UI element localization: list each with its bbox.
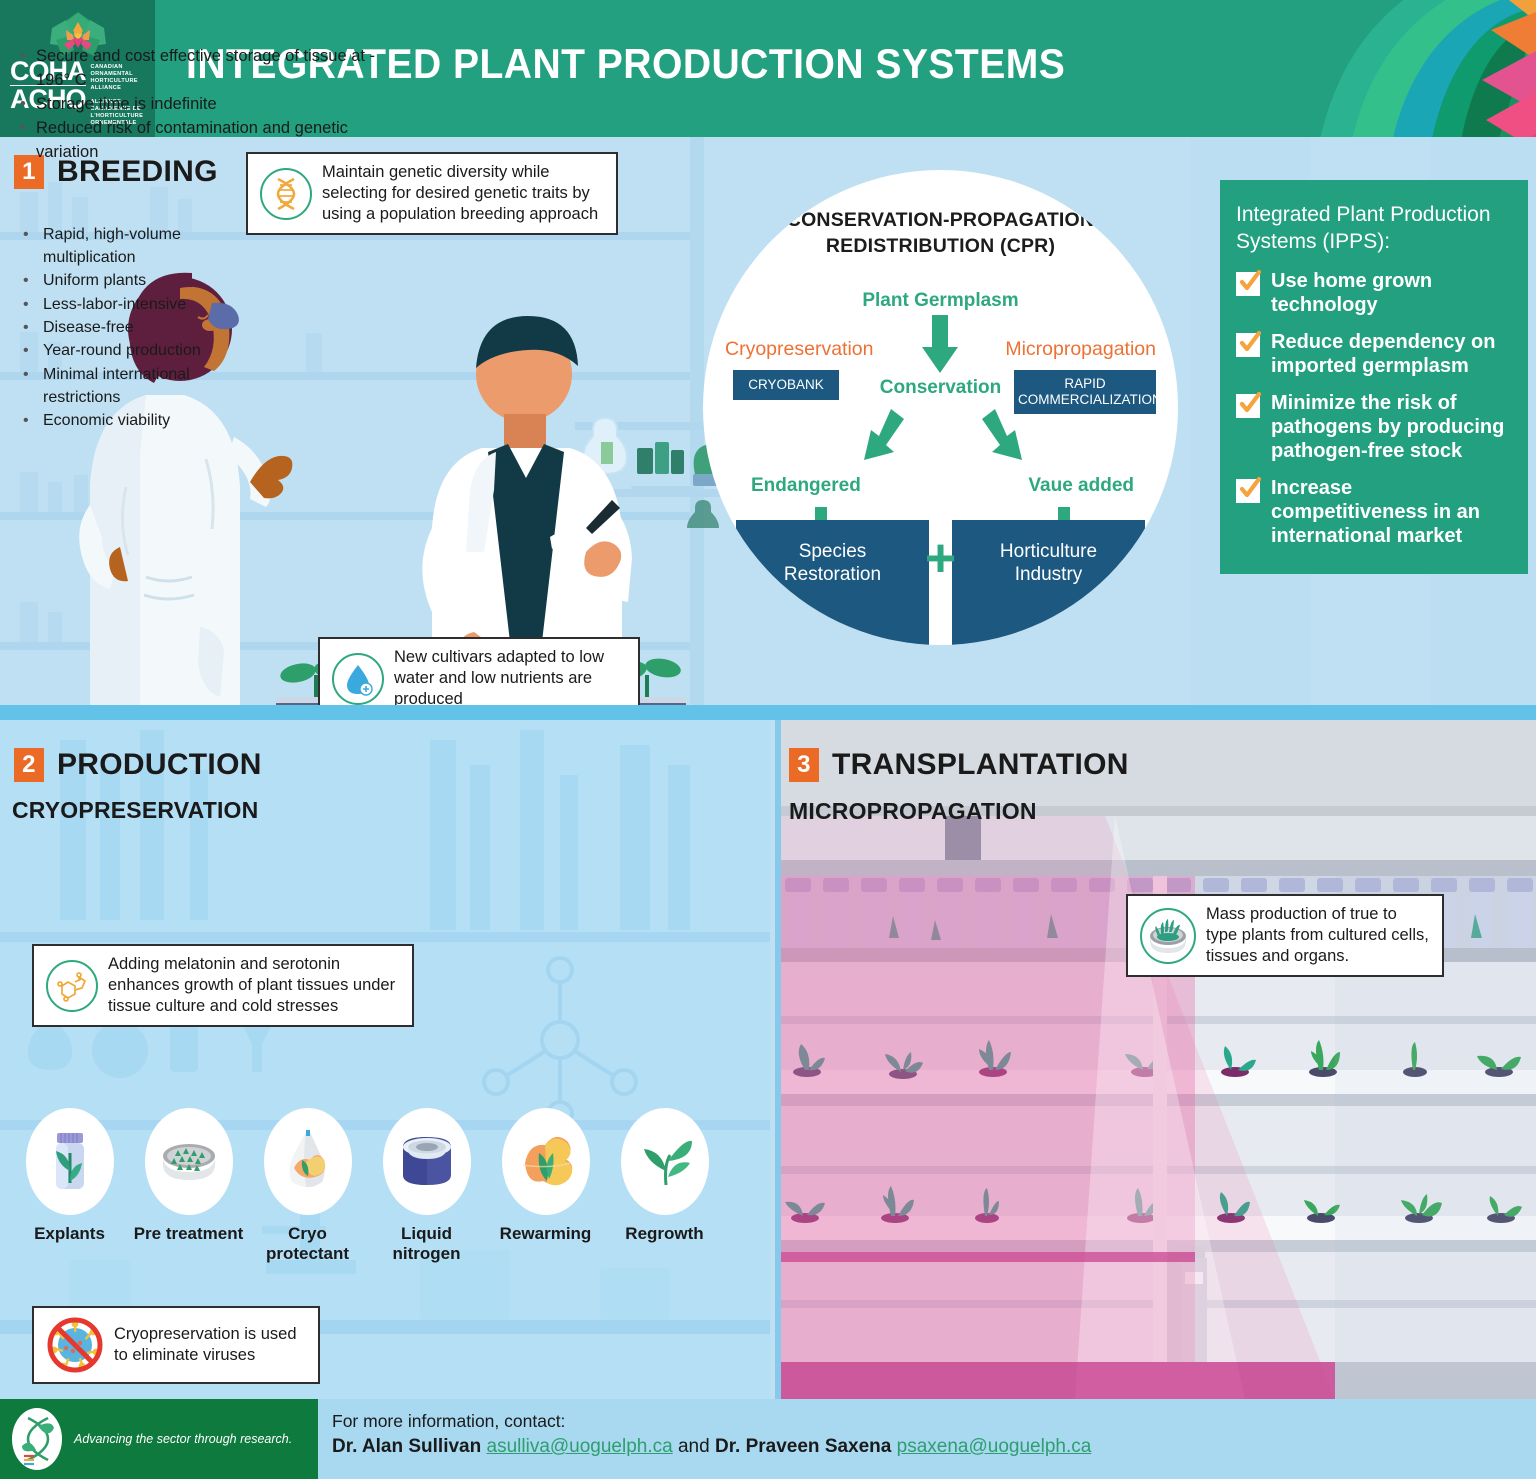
ipps-panel: Integrated Plant Production Systems (IPP…	[1220, 180, 1528, 574]
advantage-3: Less-labor-intensive	[15, 293, 267, 316]
step-ln-l1: Liquid	[401, 1224, 452, 1243]
nitrogen-dewar-icon	[383, 1108, 471, 1215]
water-drop-plus-icon	[332, 653, 384, 705]
petri-dish-icon	[145, 1108, 233, 1215]
vial-explant-icon	[26, 1108, 114, 1215]
step-pre-treatment-label: Pre treatment	[129, 1224, 248, 1244]
advantage-4: Disease-free	[15, 316, 267, 339]
cpr-plant-germplasm-label: Plant Germplasm	[703, 290, 1178, 312]
section-2-heading: 2 PRODUCTION	[14, 748, 262, 782]
step-liquid-nitrogen: Liquid nitrogen	[367, 1108, 486, 1264]
infographic-page: COHA ACHO CANADIAN ORNAMENTAL HORTICULTU…	[0, 0, 1536, 1479]
advantage-1: Rapid, high-volume multiplication	[15, 223, 267, 270]
cpr-conservation-label: Conservation	[703, 377, 1178, 399]
cpr-title-line1: CONSERVATION-PROPAGATION	[703, 208, 1178, 234]
species-restoration-line2: Restoration	[784, 563, 881, 586]
arrow-down-germplasm-icon	[914, 315, 966, 377]
checkbox-checked-icon	[1236, 479, 1260, 503]
callout-breeding-text: Maintain genetic diversity while selecti…	[322, 162, 604, 225]
section-divider	[0, 705, 1536, 720]
footer-email-1[interactable]: asulliva@uoguelph.ca	[487, 1436, 673, 1457]
horticulture-industry-line1: Horticulture	[1000, 540, 1097, 563]
callout-mass-production: Mass production of true to type plants f…	[1126, 894, 1444, 977]
gripp-bullet-1: Secure and cost effective storage of tis…	[16, 45, 394, 93]
advantages-bullet-list: Rapid, high-volume multiplication Unifor…	[15, 223, 267, 433]
step-explants: Explants	[10, 1108, 129, 1264]
section-2-number: 2	[14, 748, 44, 782]
cryo-bag-icon	[264, 1108, 352, 1215]
cpr-title-line2: REDISTRIBUTION (CPR)	[703, 234, 1178, 260]
seedling-icon	[621, 1108, 709, 1215]
callout-virus: Cryopreservation is used to eliminate vi…	[32, 1306, 320, 1384]
gripp-bullet-2: Storage time is indefinite	[16, 93, 394, 117]
section-3-title-text: TRANSPLANTATION	[832, 748, 1129, 782]
section-2-subtitle: CRYOPRESERVATION	[12, 797, 258, 824]
cpr-cryopreservation-label: Cryopreservation	[725, 338, 873, 361]
footer-tagline: Advancing the sector through research.	[74, 1432, 292, 1446]
checkbox-checked-icon	[1236, 333, 1260, 357]
advantage-2: Uniform plants	[15, 269, 267, 292]
gripp-bullet-3: Reduced risk of contamination and geneti…	[16, 117, 394, 165]
checkbox-checked-icon	[1236, 272, 1260, 296]
step-cryo-l2: protectant	[266, 1244, 349, 1263]
cpr-horticulture-industry-panel: Horticulture Industry	[952, 520, 1145, 645]
page-footer: Advancing the sector through research. F…	[0, 1399, 1536, 1479]
step-rewarming: Rewarming	[486, 1108, 605, 1264]
cpr-value-added-label: Vaue added	[1028, 475, 1134, 497]
ipps-item-4: Increase competitiveness in an internati…	[1236, 476, 1510, 548]
footer-email-2[interactable]: psaxena@uoguelph.ca	[897, 1436, 1092, 1457]
molecule-icon	[46, 960, 98, 1012]
callout-melatonin: Adding melatonin and serotonin enhances …	[32, 944, 414, 1027]
gripp-bullet-list: Secure and cost effective storage of tis…	[16, 45, 394, 165]
advantage-5: Year-round production	[15, 339, 267, 362]
ipps-item-3-label: Minimize the risk of pathogens by produc…	[1271, 391, 1510, 463]
ipps-item-1: Use home grown technology	[1236, 269, 1510, 317]
advantage-7: Economic viability	[15, 409, 267, 432]
arrow-branch-icons	[853, 407, 1033, 492]
step-liquid-nitrogen-label: Liquid nitrogen	[367, 1224, 486, 1264]
dna-leaf-icon	[8, 1406, 66, 1472]
ipps-item-2-label: Reduce dependency on imported germplasm	[1271, 330, 1510, 378]
cpr-title: CONSERVATION-PROPAGATION REDISTRIBUTION …	[703, 208, 1178, 259]
step-cryo-l1: Cryo	[288, 1224, 327, 1243]
step-rewarming-label: Rewarming	[486, 1224, 605, 1244]
petri-culture-icon	[1140, 908, 1196, 964]
step-regrowth-label: Regrowth	[605, 1224, 724, 1244]
ipps-item-3: Minimize the risk of pathogens by produc…	[1236, 391, 1510, 463]
step-cryoprotectant: Cryo protectant	[248, 1108, 367, 1264]
section-3-heading: 3 TRANSPLANTATION	[789, 748, 1129, 782]
footer-contact: For more information, contact: Dr. Alan …	[332, 1411, 1091, 1458]
cpr-endangered-label: Endangered	[751, 475, 861, 497]
ipps-item-4-label: Increase competitiveness in an internati…	[1271, 476, 1510, 548]
footer-contact-line1: For more information, contact:	[332, 1411, 1091, 1432]
section-2-title-text: PRODUCTION	[57, 748, 262, 782]
cpr-species-restoration-panel: Species Restoration	[736, 520, 929, 645]
advantage-6: Minimal international restrictions	[15, 363, 267, 410]
cpr-diagram: CONSERVATION-PROPAGATION REDISTRIBUTION …	[703, 170, 1178, 645]
step-cryoprotectant-label: Cryo protectant	[248, 1224, 367, 1264]
step-explants-label: Explants	[10, 1224, 129, 1244]
cpr-micropropagation-label: Micropropagation	[1005, 338, 1156, 361]
checkbox-checked-icon	[1236, 394, 1260, 418]
footer-name-1: Dr. Alan Sullivan	[332, 1436, 481, 1457]
footer-name-2: Dr. Praveen Saxena	[715, 1436, 891, 1457]
coha-leaf-flower-art-icon	[1286, 0, 1536, 137]
cryopreservation-steps: Explants Pre treatment	[10, 1108, 750, 1264]
callout-melatonin-text: Adding melatonin and serotonin enhances …	[108, 954, 400, 1017]
ipps-item-2: Reduce dependency on imported germplasm	[1236, 330, 1510, 378]
dna-helix-icon	[260, 168, 312, 220]
rewarming-icon	[502, 1108, 590, 1215]
step-ln-l2: nitrogen	[393, 1244, 461, 1263]
callout-cultivar-text: New cultivars adapted to low water and l…	[394, 647, 626, 710]
cpr-plus-symbol: +	[925, 531, 957, 585]
section-3-number: 3	[789, 748, 819, 782]
no-virus-icon	[46, 1316, 104, 1374]
footer-conjunction: and	[678, 1436, 710, 1457]
callout-virus-text: Cryopreservation is used to eliminate vi…	[114, 1324, 306, 1366]
section-3-subtitle: MICROPROPAGATION	[789, 798, 1037, 825]
ipps-heading: Integrated Plant Production Systems (IPP…	[1236, 202, 1510, 255]
ipps-item-1-label: Use home grown technology	[1271, 269, 1510, 317]
step-pre-treatment: Pre treatment	[129, 1108, 248, 1264]
step-regrowth: Regrowth	[605, 1108, 724, 1264]
species-restoration-line1: Species	[784, 540, 881, 563]
horticulture-industry-line2: Industry	[1000, 563, 1097, 586]
footer-brand-bar: Advancing the sector through research.	[0, 1399, 318, 1479]
callout-mass-production-text: Mass production of true to type plants f…	[1206, 904, 1430, 967]
